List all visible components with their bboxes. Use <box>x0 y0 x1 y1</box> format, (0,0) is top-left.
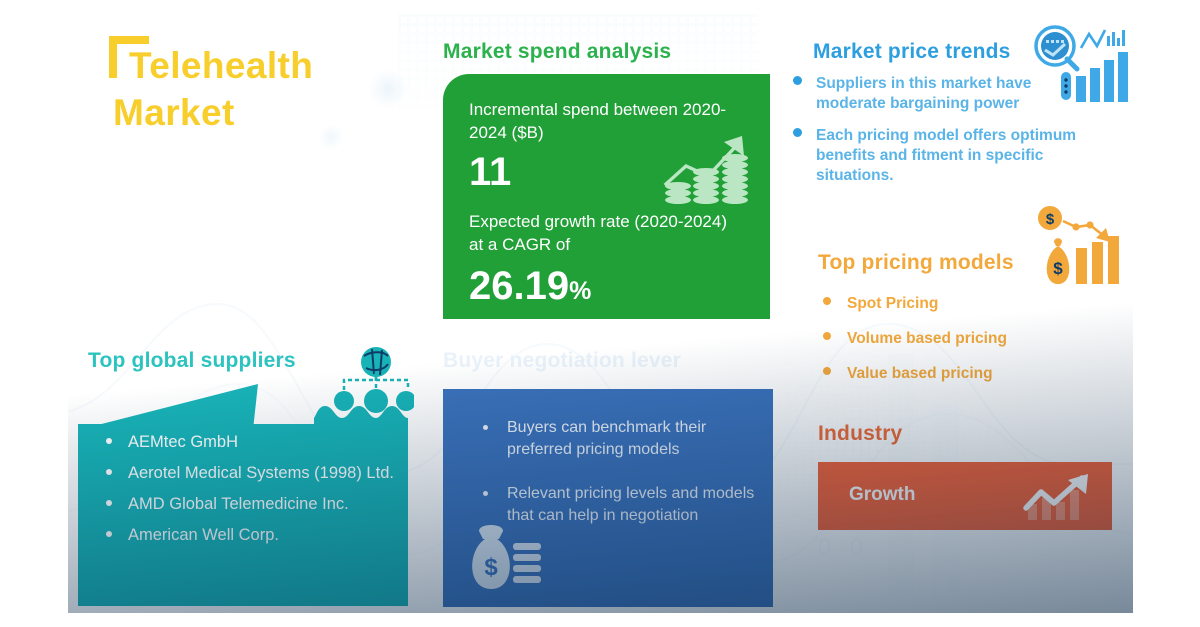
list-item-label: AMD Global Telemedicine Inc. <box>128 495 349 513</box>
suppliers-list: AEMtec GmbH Aerotel Medical Systems (199… <box>92 432 402 556</box>
list-item: AEMtec GmbH <box>92 432 402 453</box>
list-item-label: Spot Pricing <box>847 295 938 312</box>
growth-rate-label: Expected growth rate (2020-2024) at a CA… <box>469 210 744 256</box>
top-global-suppliers-heading: Top global suppliers <box>88 349 296 373</box>
list-item: Each pricing model offers optimum benefi… <box>786 126 1086 186</box>
infographic-canvas: +11,00.00 0 0 Telehealth Market Market s… <box>0 0 1200 627</box>
trademark-symbol: ™ <box>1104 575 1113 585</box>
list-item-label: Value based pricing <box>847 365 993 382</box>
list-item-label: Each pricing model offers optimum benefi… <box>816 127 1076 184</box>
list-item-label: Buyers can benchmark their preferred pri… <box>507 419 706 458</box>
bullet-dot <box>106 469 112 475</box>
list-item: Buyers can benchmark their preferred pri… <box>469 417 757 461</box>
market-spend-panel: Incremental spend between 2020-2024 ($B)… <box>443 74 770 319</box>
suppliers-list-box: AEMtec GmbH Aerotel Medical Systems (199… <box>78 424 408 606</box>
background-glow <box>368 69 408 109</box>
cagr-percent-sign: % <box>569 277 591 305</box>
spendedge-logo: SpendEdge ™ <box>930 574 1102 604</box>
magnifier-bar-chart-icon <box>1023 24 1131 112</box>
bullet-dot <box>823 332 831 340</box>
list-item-label: Suppliers in this market have moderate b… <box>816 75 1031 112</box>
logo-label: SpendEdge <box>969 575 1102 602</box>
corner-bracket-icon <box>105 32 151 80</box>
industry-heading: Industry <box>818 422 902 446</box>
list-item-label: AEMtec GmbH <box>128 433 238 451</box>
bullet-dot <box>823 367 831 375</box>
money-bag-icon: $ <box>469 517 541 591</box>
top-global-suppliers-panel: AEMtec GmbH Aerotel Medical Systems (199… <box>78 384 408 606</box>
coin-declining-bars-icon: $ $ <box>1036 204 1130 290</box>
infographic-board: +11,00.00 0 0 Telehealth Market Market s… <box>68 14 1133 613</box>
list-item: Spot Pricing <box>813 294 1103 314</box>
incremental-spend-value: 11 <box>469 150 511 195</box>
bullet-dot <box>823 297 831 305</box>
market-spend-analysis-heading: Market spend analysis <box>443 40 671 64</box>
coins-growth-icon <box>662 126 750 208</box>
list-item-label: American Well Corp. <box>128 526 279 544</box>
status-badge: Growth <box>849 484 916 506</box>
bullet-dot <box>106 438 112 444</box>
list-item-label: Volume based pricing <box>847 330 1007 347</box>
page-title: Telehealth Market <box>113 42 313 136</box>
background-glow-2 <box>318 124 344 150</box>
list-item: AMD Global Telemedicine Inc. <box>92 494 402 515</box>
svg-text:$: $ <box>1046 211 1055 228</box>
list-item: Aerotel Medical Systems (1998) Ltd. <box>92 463 402 484</box>
top-pricing-models-heading: Top pricing models <box>818 251 1014 275</box>
title-line-2: Market <box>113 89 313 136</box>
list-item-label: Aerotel Medical Systems (1998) Ltd. <box>128 464 394 482</box>
industry-status-box: Growth <box>818 462 1112 530</box>
svg-text:$: $ <box>1053 259 1063 278</box>
growth-arrow-icon <box>1022 472 1096 522</box>
buyer-negotiation-panel: Buyers can benchmark their preferred pri… <box>443 389 773 607</box>
logo-text: SpendEdge ™ <box>969 575 1102 603</box>
list-item: Volume based pricing <box>813 329 1103 349</box>
bullet-dot <box>483 425 488 430</box>
list-item: American Well Corp. <box>92 525 402 546</box>
cagr-number: 26.19 <box>469 264 569 308</box>
spendedge-chevron-icon <box>930 574 960 604</box>
cagr-value: 26.19% <box>469 264 591 309</box>
buyer-negotiation-lever-heading: Buyer negotiation lever <box>443 349 681 373</box>
bullet-dot <box>106 500 112 506</box>
bullet-dot <box>793 128 802 137</box>
top-pricing-models-list: Spot Pricing Volume based pricing Value … <box>813 294 1103 399</box>
list-item-label: Relevant pricing levels and models that … <box>507 485 754 524</box>
bullet-dot <box>106 531 112 537</box>
bullet-dot <box>483 491 488 496</box>
market-price-trends-heading: Market price trends <box>813 40 1011 64</box>
svg-text:$: $ <box>484 554 498 581</box>
list-item: Value based pricing <box>813 364 1103 384</box>
bullet-dot <box>793 76 802 85</box>
